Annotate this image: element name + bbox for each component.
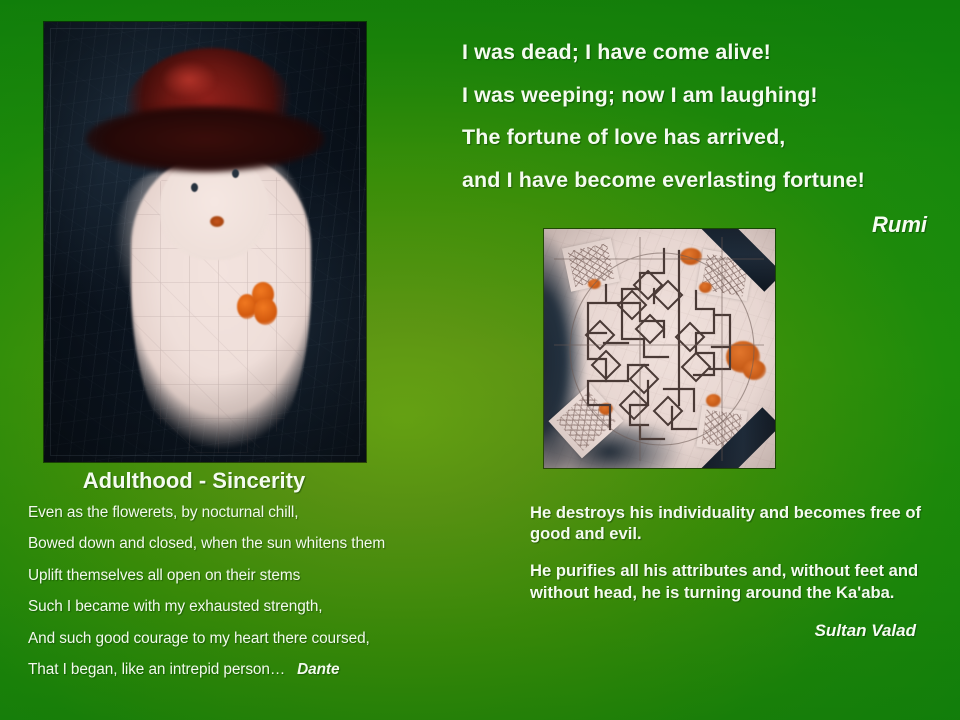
labyrinth-artwork-image[interactable] <box>544 229 775 468</box>
dante-poem-line: Bowed down and closed, when the sun whit… <box>28 536 498 551</box>
dante-poem-line: Such I became with my exhausted strength… <box>28 599 498 614</box>
valad-paragraph: He purifies all his attributes and, with… <box>530 560 930 602</box>
rumi-quote-line: and I have become everlasting fortune! <box>462 170 932 192</box>
valad-attribution: Sultan Valad <box>530 621 930 641</box>
valad-paragraph: He destroys his individuality and become… <box>530 502 930 544</box>
rumi-quote-line: The fortune of love has arrived, <box>462 127 932 149</box>
section-heading: Adulthood - Sincerity <box>28 468 498 494</box>
dante-poem-line: Even as the flowerets, by nocturnal chil… <box>28 505 498 520</box>
labyrinth-vignette <box>544 229 775 468</box>
rumi-quote-block: I was dead; I have come alive! I was wee… <box>462 42 932 238</box>
portrait-vignette <box>44 22 366 462</box>
dante-poem-block: Adulthood - Sincerity Even as the flower… <box>28 468 498 693</box>
slide-canvas: I was dead; I have come alive! I was wee… <box>0 0 960 720</box>
dante-poem-line: Uplift themselves all open on their stem… <box>28 568 498 583</box>
dante-poem-last-line-text: That I began, like an intrepid person… <box>28 661 285 678</box>
rumi-quote-line: I was weeping; now I am laughing! <box>462 85 932 107</box>
dante-poem-line: And such good courage to my heart there … <box>28 631 498 646</box>
dante-attribution: Dante <box>285 661 339 678</box>
sultan-valad-block: He destroys his individuality and become… <box>530 502 930 641</box>
portrait-artwork-image[interactable] <box>44 22 366 462</box>
rumi-quote-line: I was dead; I have come alive! <box>462 42 932 64</box>
dante-poem-last-line: That I began, like an intrepid person…Da… <box>28 662 498 677</box>
rumi-attribution: Rumi <box>462 212 932 238</box>
